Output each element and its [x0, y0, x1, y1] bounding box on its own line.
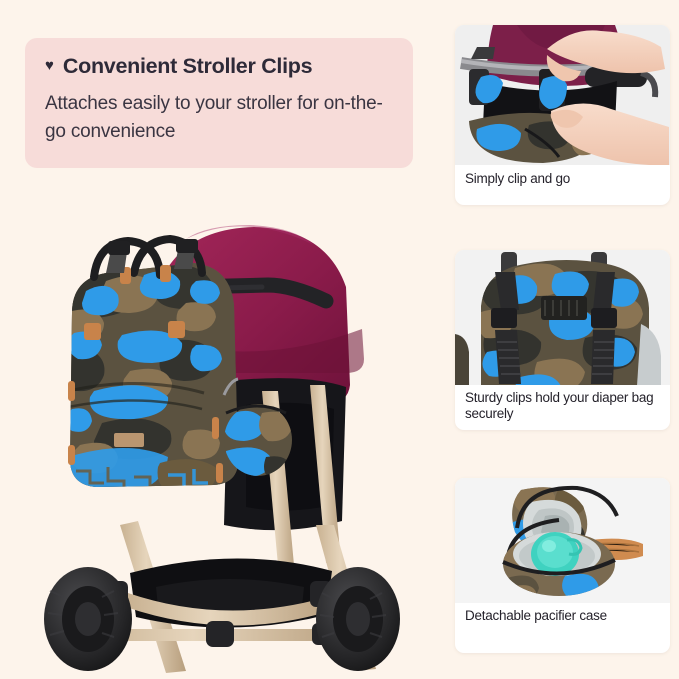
feature-subtitle: Attaches easily to your stroller for on-…: [45, 90, 391, 145]
left-column: ♥ Convenient Stroller Clips Attaches eas…: [0, 0, 440, 679]
card-2-photo: [455, 250, 670, 385]
feature-card-simply-clip-and-go[interactable]: Simply clip and go: [455, 25, 670, 205]
card-1-photo: [455, 25, 670, 165]
heart-icon: ♥: [45, 58, 54, 73]
card-1-caption: Simply clip and go: [465, 171, 664, 187]
card-3-caption: Detachable pacifier case: [465, 608, 664, 624]
right-column: Simply clip and go: [447, 0, 679, 679]
banner-title-row: ♥ Convenient Stroller Clips: [45, 54, 391, 79]
hero-product-photo: [10, 195, 435, 675]
feature-banner: ♥ Convenient Stroller Clips Attaches eas…: [25, 38, 413, 168]
feature-card-pacifier-case[interactable]: Detachable pacifier case: [455, 478, 670, 653]
card-3-photo: [455, 478, 670, 603]
feature-title: Convenient Stroller Clips: [63, 54, 312, 79]
feature-card-sturdy-clips[interactable]: Sturdy clips hold your diaper bag secure…: [455, 250, 670, 430]
card-2-caption: Sturdy clips hold your diaper bag secure…: [465, 390, 664, 421]
